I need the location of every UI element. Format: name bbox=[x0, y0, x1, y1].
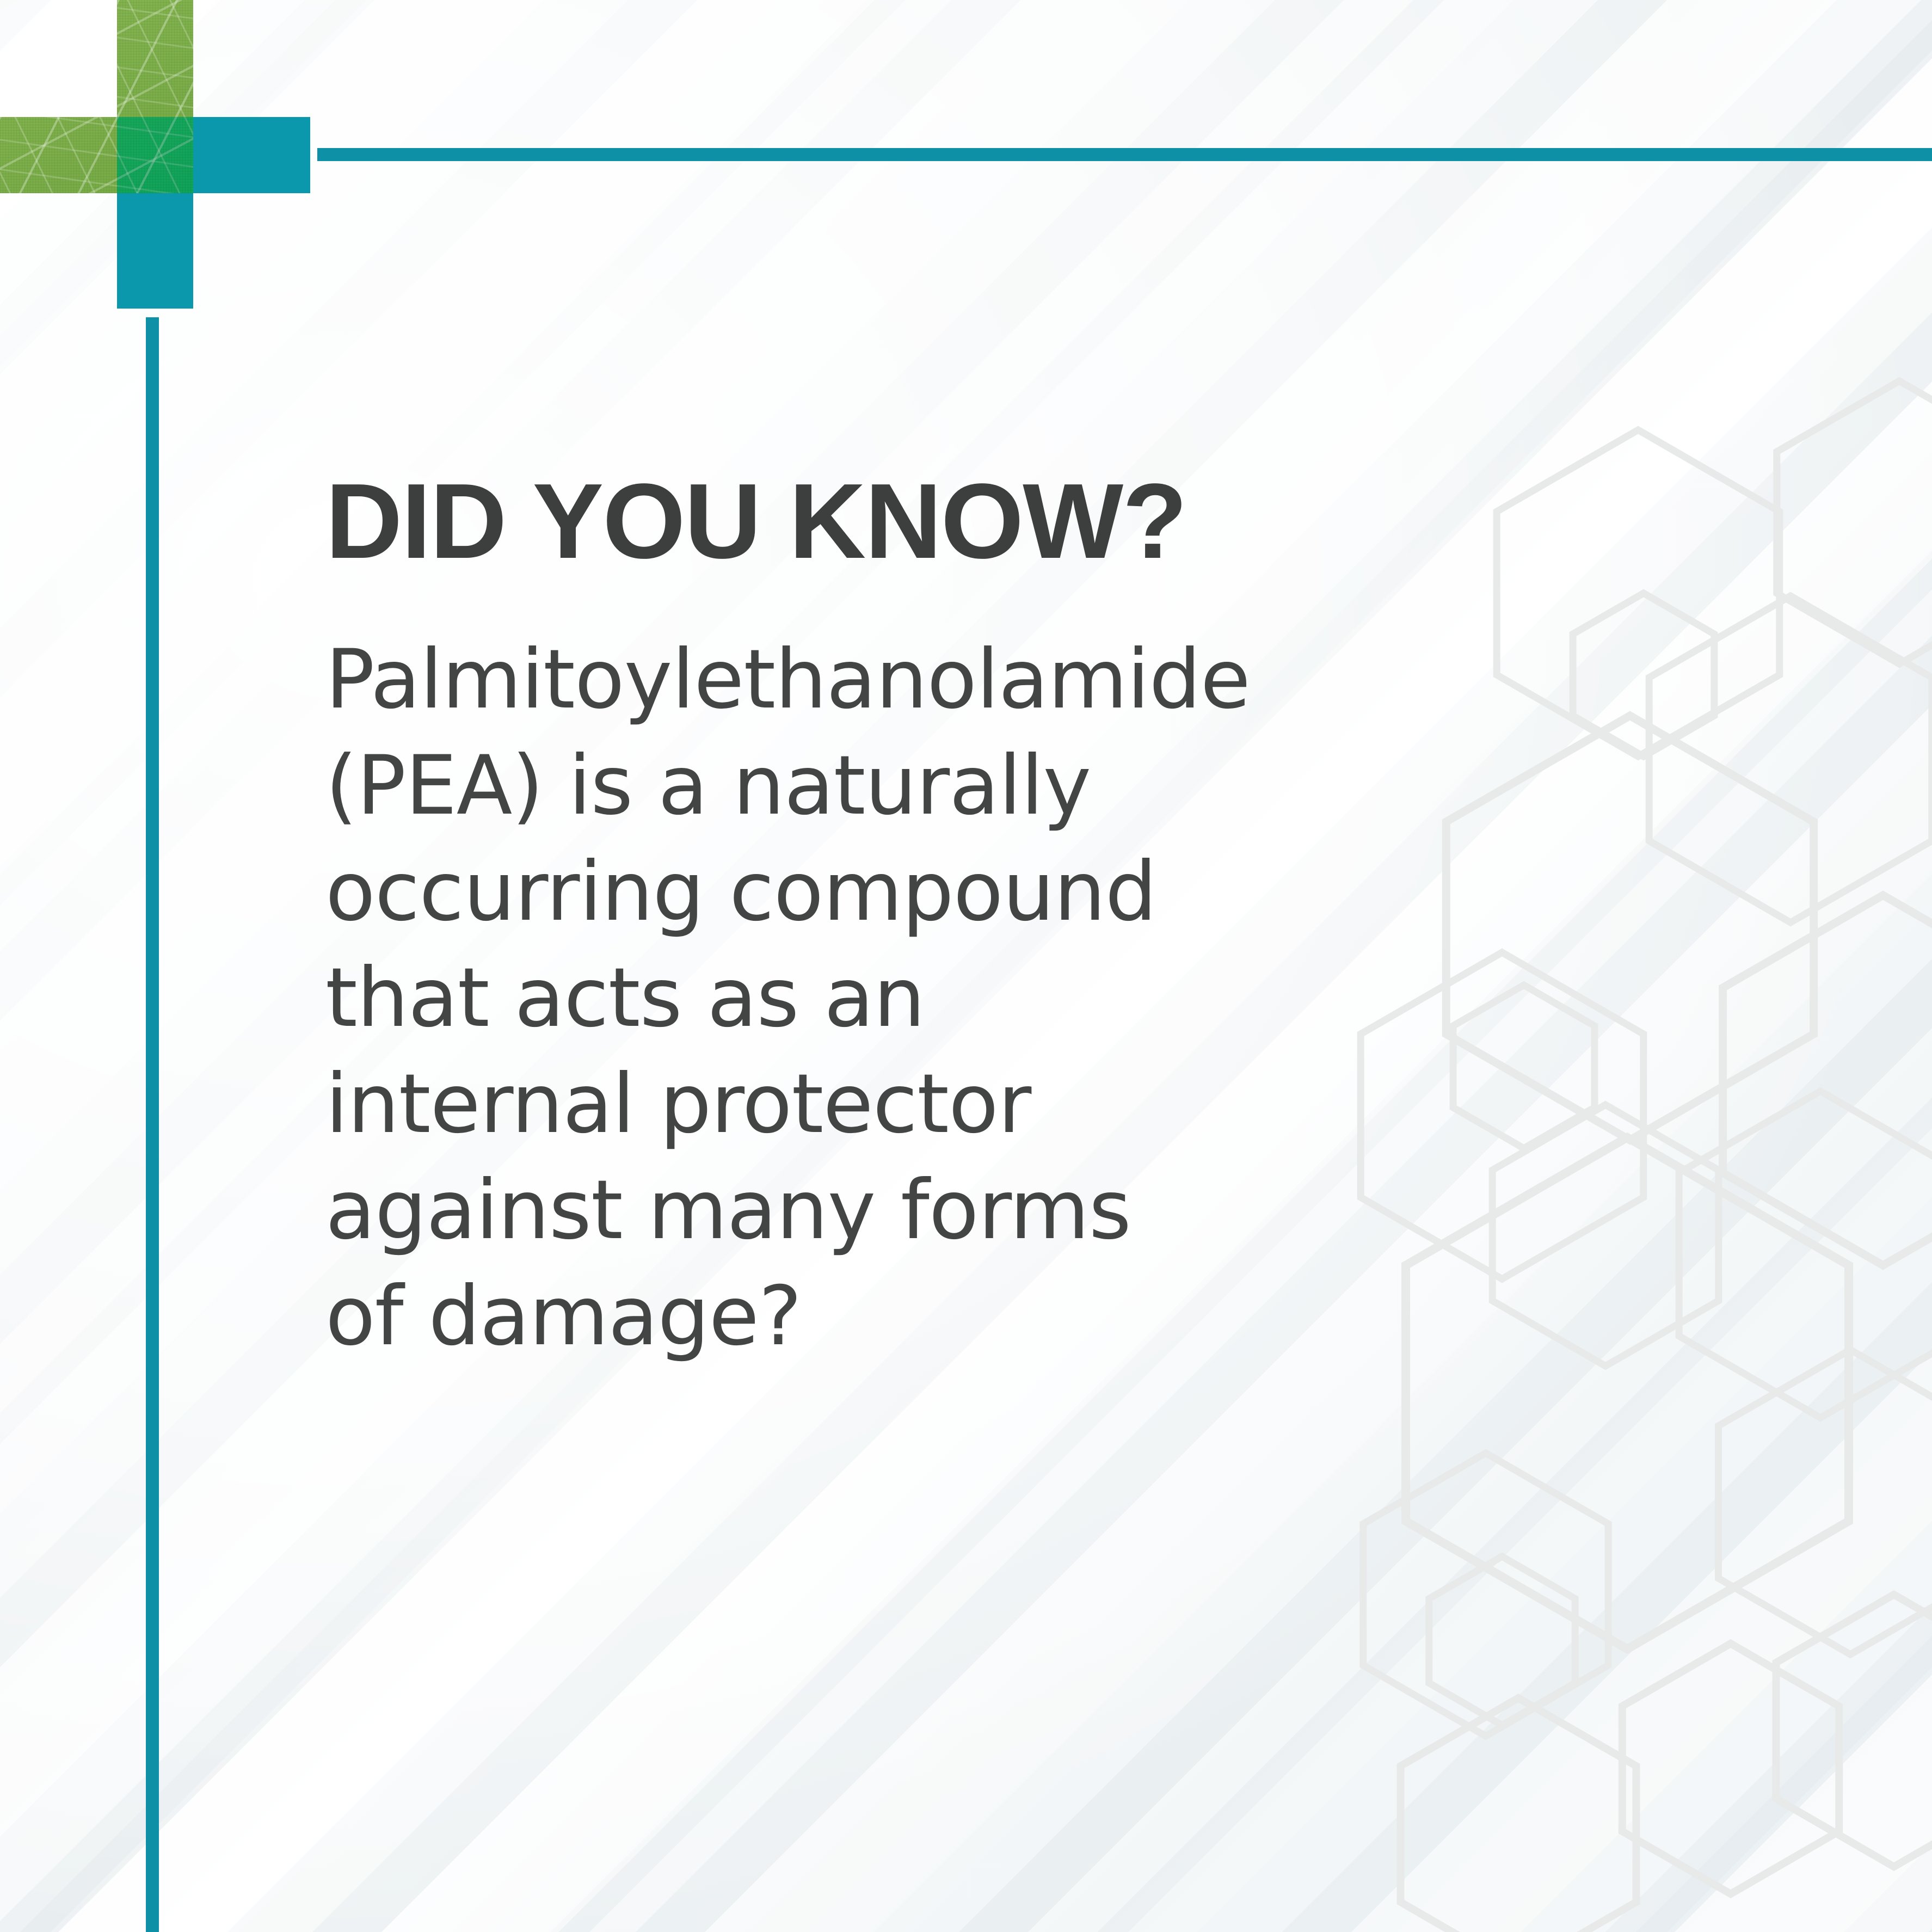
hexagon-outline bbox=[1649, 596, 1932, 922]
leaf-texture bbox=[117, 0, 193, 117]
hexagon-outline bbox=[1777, 381, 1932, 664]
hexagon-outline bbox=[1622, 1644, 1839, 1894]
hexagon-outline bbox=[1719, 1350, 1932, 1654]
teal-tile-bottom bbox=[117, 193, 193, 309]
body-line: Palmitoylethanolamide bbox=[325, 627, 1457, 733]
body-line: of damage? bbox=[325, 1264, 1457, 1370]
body-line: that acts as an bbox=[325, 945, 1457, 1051]
leaf-texture bbox=[117, 117, 193, 193]
poster-canvas: DID YOU KNOW? Palmitoylethanolamide(PEA)… bbox=[0, 0, 1932, 1932]
leaf-tile-center bbox=[117, 117, 193, 193]
hexagon-outline bbox=[1401, 1698, 1636, 1932]
leaf-texture bbox=[0, 117, 117, 193]
body-paragraph: Palmitoylethanolamide(PEA) is a naturall… bbox=[325, 627, 1457, 1370]
leaf-tile-vertical bbox=[117, 0, 193, 117]
body-line: against many forms bbox=[325, 1158, 1457, 1264]
body-line: occurring compound bbox=[325, 839, 1457, 945]
body-line: (PEA) is a naturally bbox=[325, 733, 1457, 839]
teal-horizontal-rule bbox=[317, 148, 1932, 161]
hexagon-outline bbox=[1776, 1595, 1932, 1867]
body-line: internal protector bbox=[325, 1051, 1457, 1158]
page-title: DID YOU KNOW? bbox=[325, 468, 1523, 575]
leaf-tile-horizontal bbox=[0, 117, 117, 193]
teal-vertical-rule bbox=[146, 317, 159, 1932]
leaf-cross-logo bbox=[0, 0, 348, 348]
text-block: DID YOU KNOW? Palmitoylethanolamide(PEA)… bbox=[325, 468, 1523, 1370]
